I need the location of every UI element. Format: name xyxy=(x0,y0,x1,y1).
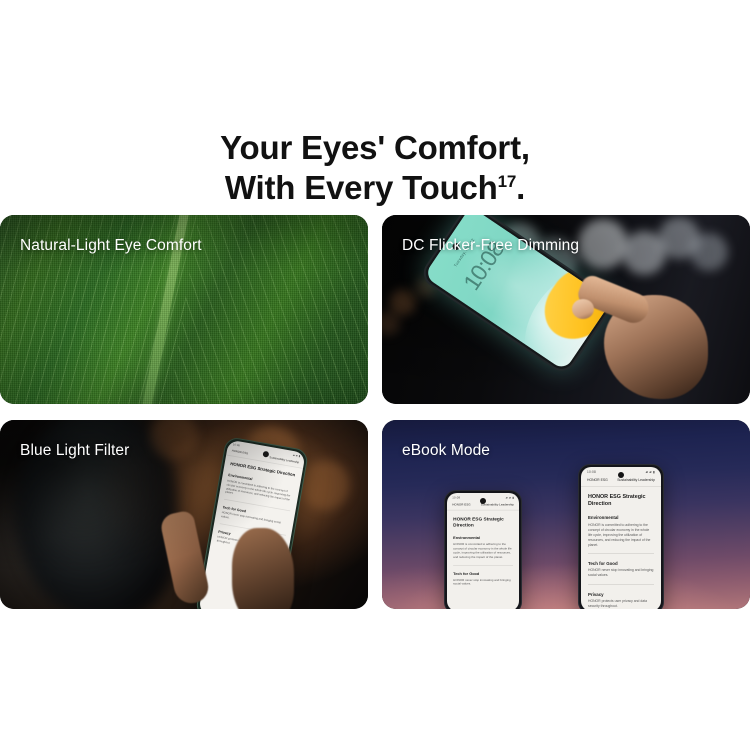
feature-card-blue-light-filter[interactable]: 10:08 ▰ ▰ ▮ HONOR ESG Sustainability Lea… xyxy=(0,420,368,609)
status-icons: ▰ ▰ ▮ xyxy=(646,470,655,474)
esg-section-heading: Environmental xyxy=(588,515,654,520)
page-title-period: . xyxy=(516,169,525,206)
esg-section: Environmental HONOR is committed to adhe… xyxy=(581,508,661,547)
status-time: 10:08 xyxy=(587,470,596,474)
app-bar-right-label[interactable]: Sustainability Leadership xyxy=(481,503,514,507)
esg-section-body: HONOR never stop innovating and bringing… xyxy=(453,578,513,587)
camera-punch-hole-icon xyxy=(480,498,486,504)
phone-ebook-back-screen: 10:08 ▰ ▰ ▮ HONOR ESG Sustainability Lea… xyxy=(581,467,661,609)
esg-section-body: HONOR is committed to adhering to the co… xyxy=(588,523,654,548)
camera-punch-hole-icon xyxy=(618,472,624,478)
feature-grid-page: Your Eyes' Comfort, With Every Touch17. … xyxy=(0,0,750,750)
feature-card-label-ebook-mode: eBook Mode xyxy=(402,442,490,460)
feature-card-natural-light-eye-comfort[interactable]: Natural-Light Eye Comfort xyxy=(0,215,368,404)
feature-card-label-dc-flicker-free-dimming: DC Flicker-Free Dimming xyxy=(402,237,579,255)
feature-card-ebook-mode[interactable]: 10:08 ▰ ▰ ▮ HONOR ESG Sustainability Lea… xyxy=(382,420,750,609)
esg-document: 10:08 ▰ ▰ ▮ HONOR ESG Sustainability Lea… xyxy=(581,467,661,609)
status-icons: ▰ ▰ ▮ xyxy=(506,496,514,500)
feature-card-grid: Natural-Light Eye Comfort Tuesda xyxy=(0,215,750,609)
app-bar-right-label[interactable]: Sustainability Leadership xyxy=(617,478,655,482)
esg-section-body: HONOR never stop innovating and bringing… xyxy=(588,568,654,578)
page-title-line-2-text: With Every Touch xyxy=(225,169,498,206)
phone-ebook-front-screen: 10:08 ▰ ▰ ▮ HONOR ESG Sustainability Lea… xyxy=(447,493,519,609)
app-bar-left-label: HONOR ESG xyxy=(452,503,470,507)
feature-card-dc-flicker-free-dimming[interactable]: Tuesday, Oct 22 10:08 DC Flicker-Free Di… xyxy=(382,215,750,404)
esg-section: Tech for Good HONOR never stop innovatin… xyxy=(447,565,519,586)
esg-document-title: HONOR ESG Strategic Direction xyxy=(581,487,661,508)
app-bar-left-label: HONOR ESG xyxy=(587,478,608,482)
esg-section: Privacy HONOR protects user privacy and … xyxy=(581,585,661,609)
footnote-marker: 17 xyxy=(498,172,517,191)
page-title: Your Eyes' Comfort, With Every Touch17. xyxy=(0,128,750,208)
feature-card-label-blue-light-filter: Blue Light Filter xyxy=(20,442,129,460)
esg-section: Environmental HONOR is committed to adhe… xyxy=(447,529,519,559)
esg-section-heading: Privacy xyxy=(588,592,654,597)
esg-document-title: HONOR ESG Strategic Direction xyxy=(447,511,519,530)
esg-section: Tech for Good HONOR never stop innovatin… xyxy=(581,554,661,578)
pointing-hand xyxy=(576,269,708,401)
esg-section-body: HONOR protects user privacy and data sec… xyxy=(588,599,654,609)
phone-ebook-back: 10:08 ▰ ▰ ▮ HONOR ESG Sustainability Lea… xyxy=(578,464,664,609)
esg-document: 10:08 ▰ ▰ ▮ HONOR ESG Sustainability Lea… xyxy=(447,493,519,597)
hand-finger-tip xyxy=(572,299,594,319)
page-title-line-2: With Every Touch17. xyxy=(0,168,750,208)
esg-section-heading: Tech for Good xyxy=(453,571,513,575)
esg-section-body: HONOR is committed to adhering to the co… xyxy=(453,542,513,559)
esg-section-heading: Environmental xyxy=(453,535,513,539)
page-title-line-1: Your Eyes' Comfort, xyxy=(0,128,750,168)
status-time: 10:08 xyxy=(452,496,460,500)
phone-ebook-front: 10:08 ▰ ▰ ▮ HONOR ESG Sustainability Lea… xyxy=(444,490,522,609)
esg-section-heading: Tech for Good xyxy=(588,561,654,566)
feature-card-label-natural-light-eye-comfort: Natural-Light Eye Comfort xyxy=(20,237,202,255)
